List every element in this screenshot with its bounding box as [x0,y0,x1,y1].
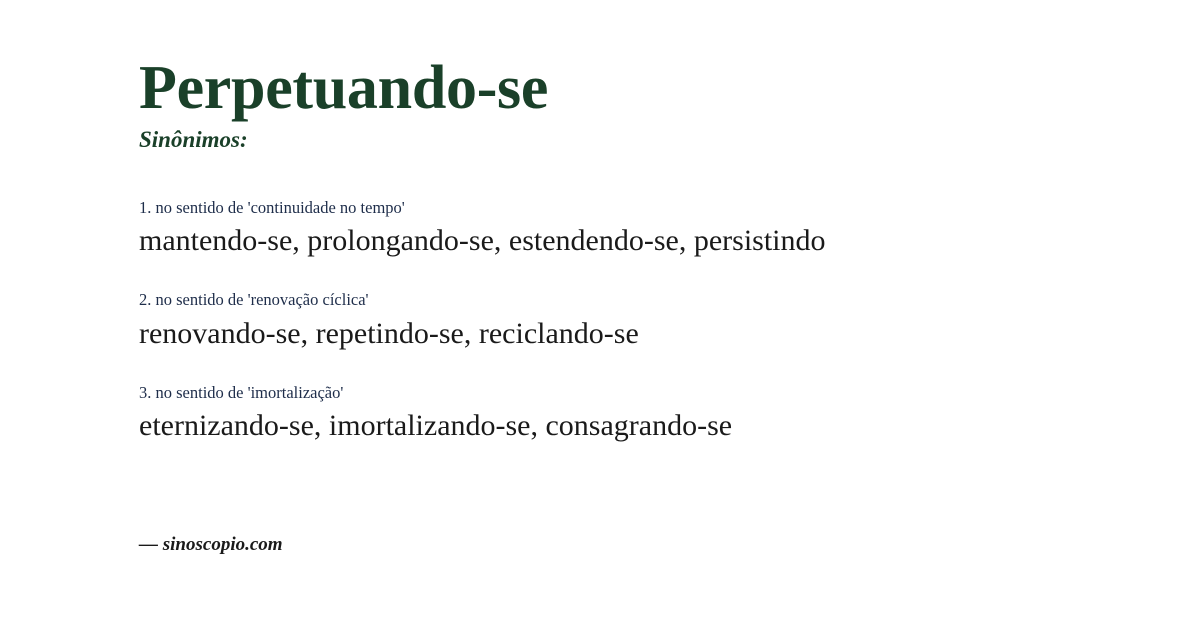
page-title: Perpetuando-se [139,56,1100,121]
sense-label: 2. no sentido de 'renovação cíclica' [139,290,1100,311]
card-footer: — sinoscopio.com [139,534,283,557]
sense-entry-1: 1. no sentido de 'continuidade no tempo'… [139,198,1100,261]
sense-synonyms: mantendo-se, prolongando-se, estendendo-… [139,221,1100,260]
sense-label: 1. no sentido de 'continuidade no tempo' [139,198,1100,219]
sense-list: 1. no sentido de 'continuidade no tempo'… [139,198,1100,446]
synonym-card: Perpetuando-se Sinônimos: 1. no sentido … [0,0,1200,628]
card-header: Perpetuando-se Sinônimos: [139,0,1100,154]
sense-label: 3. no sentido de 'imortalização' [139,383,1100,404]
sense-entry-3: 3. no sentido de 'imortalização' eterniz… [139,383,1100,446]
source-attribution: — sinoscopio.com [139,534,283,557]
sense-synonyms: eternizando-se, imortalizando-se, consag… [139,406,1100,445]
sense-entry-2: 2. no sentido de 'renovação cíclica' ren… [139,290,1100,353]
sense-synonyms: renovando-se, repetindo-se, reciclando-s… [139,314,1100,353]
section-subtitle: Sinônimos: [139,127,1100,153]
